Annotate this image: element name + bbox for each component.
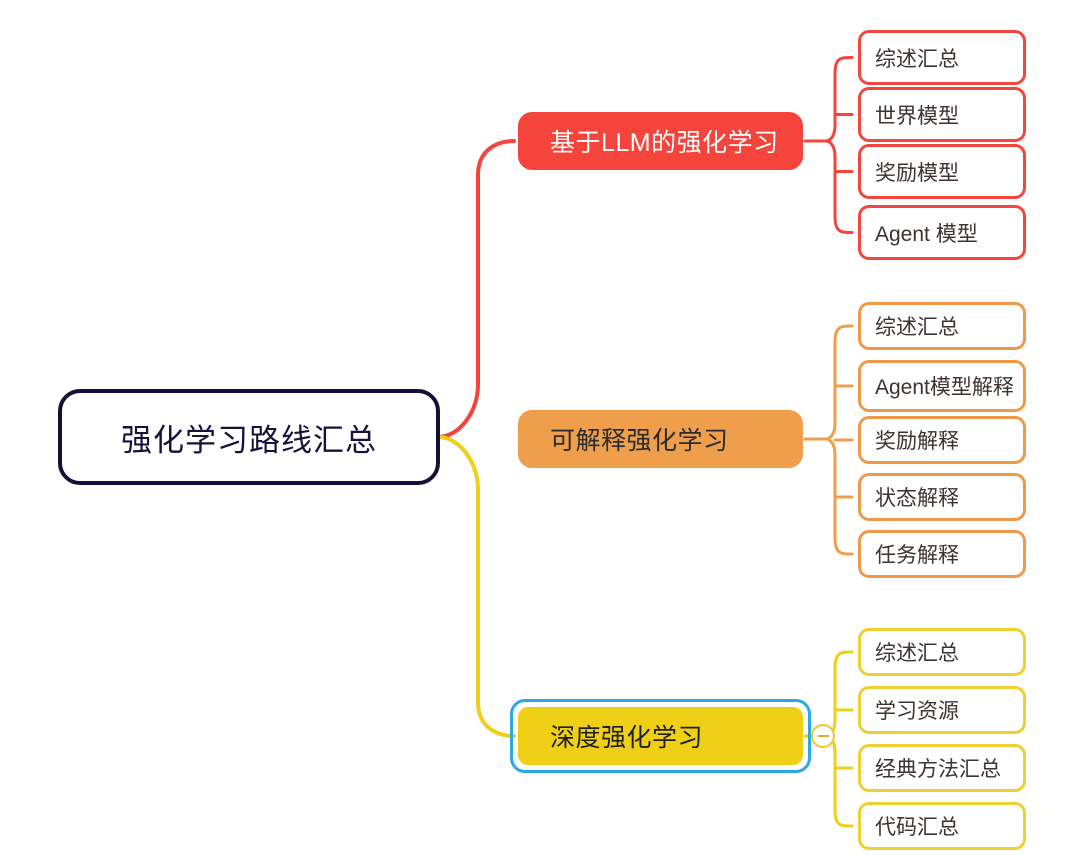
root-node[interactable]: 强化学习路线汇总 xyxy=(58,389,440,485)
leaf-node[interactable]: 综述汇总 xyxy=(858,30,1026,85)
branch-node-deep-rl[interactable]: 深度强化学习 xyxy=(518,707,803,765)
leaf-node[interactable]: Agent模型解释 xyxy=(858,360,1026,412)
leaf-node[interactable]: 综述汇总 xyxy=(858,628,1026,676)
connector-brace-upper-deep-rl xyxy=(835,652,852,720)
connector-brace-lower-deep-rl xyxy=(835,752,852,826)
leaf-node[interactable]: 任务解释 xyxy=(858,530,1026,578)
leaf-node[interactable]: 综述汇总 xyxy=(858,302,1026,350)
leaf-node-label: 世界模型 xyxy=(875,100,959,130)
leaf-node-label: Agent 模型 xyxy=(875,218,978,248)
leaf-node-label: 综述汇总 xyxy=(875,311,959,341)
leaf-node-label: 状态解释 xyxy=(875,482,959,512)
connector-root-to-llm-rl xyxy=(438,141,514,437)
leaf-node-label: 奖励模型 xyxy=(875,157,959,187)
leaf-node[interactable]: 奖励解释 xyxy=(858,416,1026,464)
collapse-toggle-deep-rl[interactable] xyxy=(811,724,835,748)
leaf-node[interactable]: 世界模型 xyxy=(858,87,1026,142)
connector-brace-lower-explainable-rl xyxy=(835,455,852,554)
leaf-node[interactable]: 学习资源 xyxy=(858,686,1026,734)
connector-root-to-deep-rl xyxy=(438,437,514,736)
connector-brace-lower-llm-rl xyxy=(835,157,852,233)
mindmap-canvas: 强化学习路线汇总基于LLM的强化学习综述汇总世界模型奖励模型Agent 模型可解… xyxy=(0,0,1080,855)
leaf-node[interactable]: 经典方法汇总 xyxy=(858,744,1026,792)
leaf-node-label: 综述汇总 xyxy=(875,637,959,667)
branch-node-llm-rl[interactable]: 基于LLM的强化学习 xyxy=(518,112,803,170)
leaf-node-label: 代码汇总 xyxy=(875,811,959,841)
root-node-label: 强化学习路线汇总 xyxy=(121,415,377,460)
connector-brace-upper-explainable-rl xyxy=(835,326,852,423)
connector-brace-apex-llm-rl xyxy=(826,125,835,157)
leaf-node-label: 学习资源 xyxy=(875,695,959,725)
leaf-node[interactable]: 奖励模型 xyxy=(858,144,1026,199)
connector-brace-apex-explainable-rl xyxy=(826,423,835,455)
leaf-node-label: 经典方法汇总 xyxy=(875,753,1001,783)
leaf-node-label: Agent模型解释 xyxy=(875,371,1014,401)
connector-brace-upper-llm-rl xyxy=(835,58,852,126)
branch-node-label: 可解释强化学习 xyxy=(550,421,729,457)
branch-node-label: 深度强化学习 xyxy=(550,718,703,754)
branch-node-label: 基于LLM的强化学习 xyxy=(550,123,779,159)
leaf-node-label: 综述汇总 xyxy=(875,43,959,73)
leaf-node[interactable]: Agent 模型 xyxy=(858,205,1026,260)
leaf-node-label: 任务解释 xyxy=(875,539,959,569)
leaf-node[interactable]: 代码汇总 xyxy=(858,802,1026,850)
branch-node-explainable-rl[interactable]: 可解释强化学习 xyxy=(518,410,803,468)
minus-icon xyxy=(818,735,829,737)
leaf-node-label: 奖励解释 xyxy=(875,425,959,455)
leaf-node[interactable]: 状态解释 xyxy=(858,473,1026,521)
